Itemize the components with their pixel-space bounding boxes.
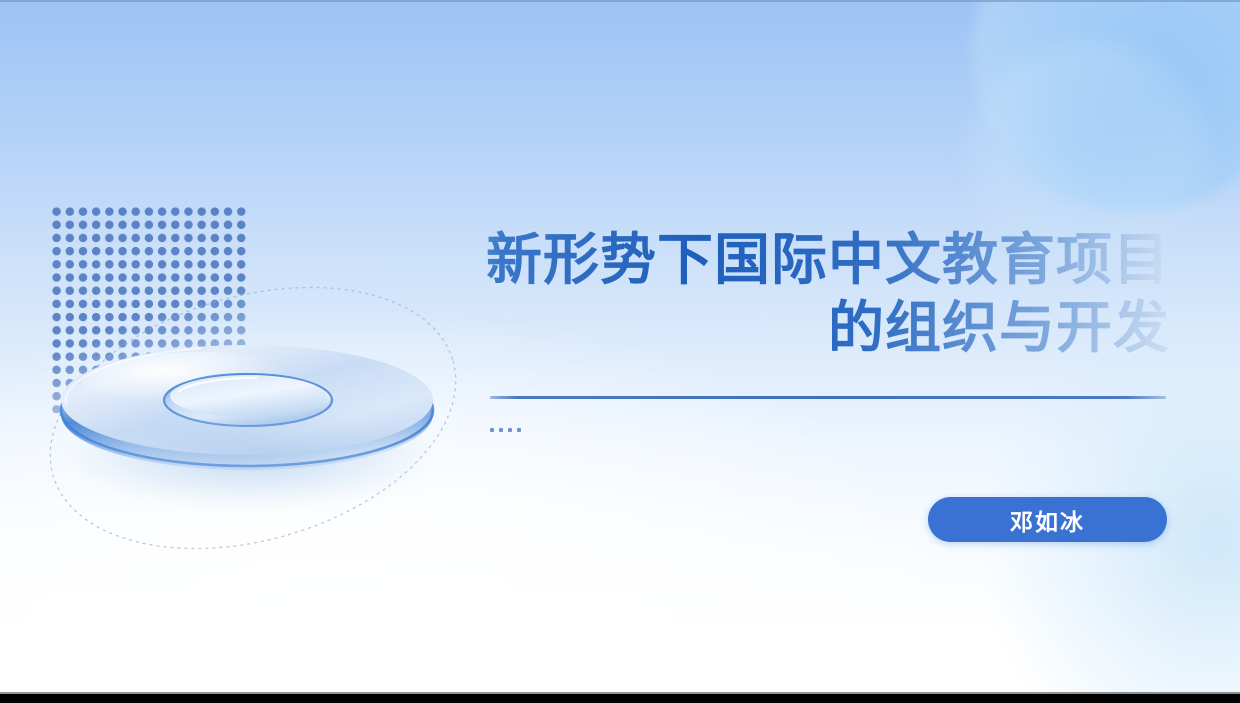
torus-shadow-icon [74, 408, 426, 504]
presentation-slide: 新形势下国际中文教育项目 的组织与开发 邓如冰 [0, 0, 1240, 703]
author-name: 邓如冰 [1010, 503, 1085, 537]
title-line-1: 新形势下国际中文教育项目 [380, 226, 1170, 294]
decorative-blob-top-right-icon [972, 0, 1240, 212]
author-badge: 邓如冰 [928, 497, 1167, 542]
decor-dot-2 [499, 428, 503, 432]
decor-dot-3 [508, 428, 512, 432]
decor-dot-1 [490, 428, 494, 432]
dot-grid-pattern-icon [50, 205, 248, 413]
title-divider-rule [490, 396, 1166, 399]
decorative-dot-row [490, 428, 521, 432]
slide-top-hairline [0, 0, 1240, 2]
title-line-2: 的组织与开发 [380, 294, 1170, 362]
decor-dot-4 [517, 428, 521, 432]
slide-canvas: 新形势下国际中文教育项目 的组织与开发 邓如冰 [0, 0, 1240, 694]
letterbox-bar-bottom [0, 694, 1240, 703]
slide-title: 新形势下国际中文教育项目 的组织与开发 [380, 226, 1170, 362]
